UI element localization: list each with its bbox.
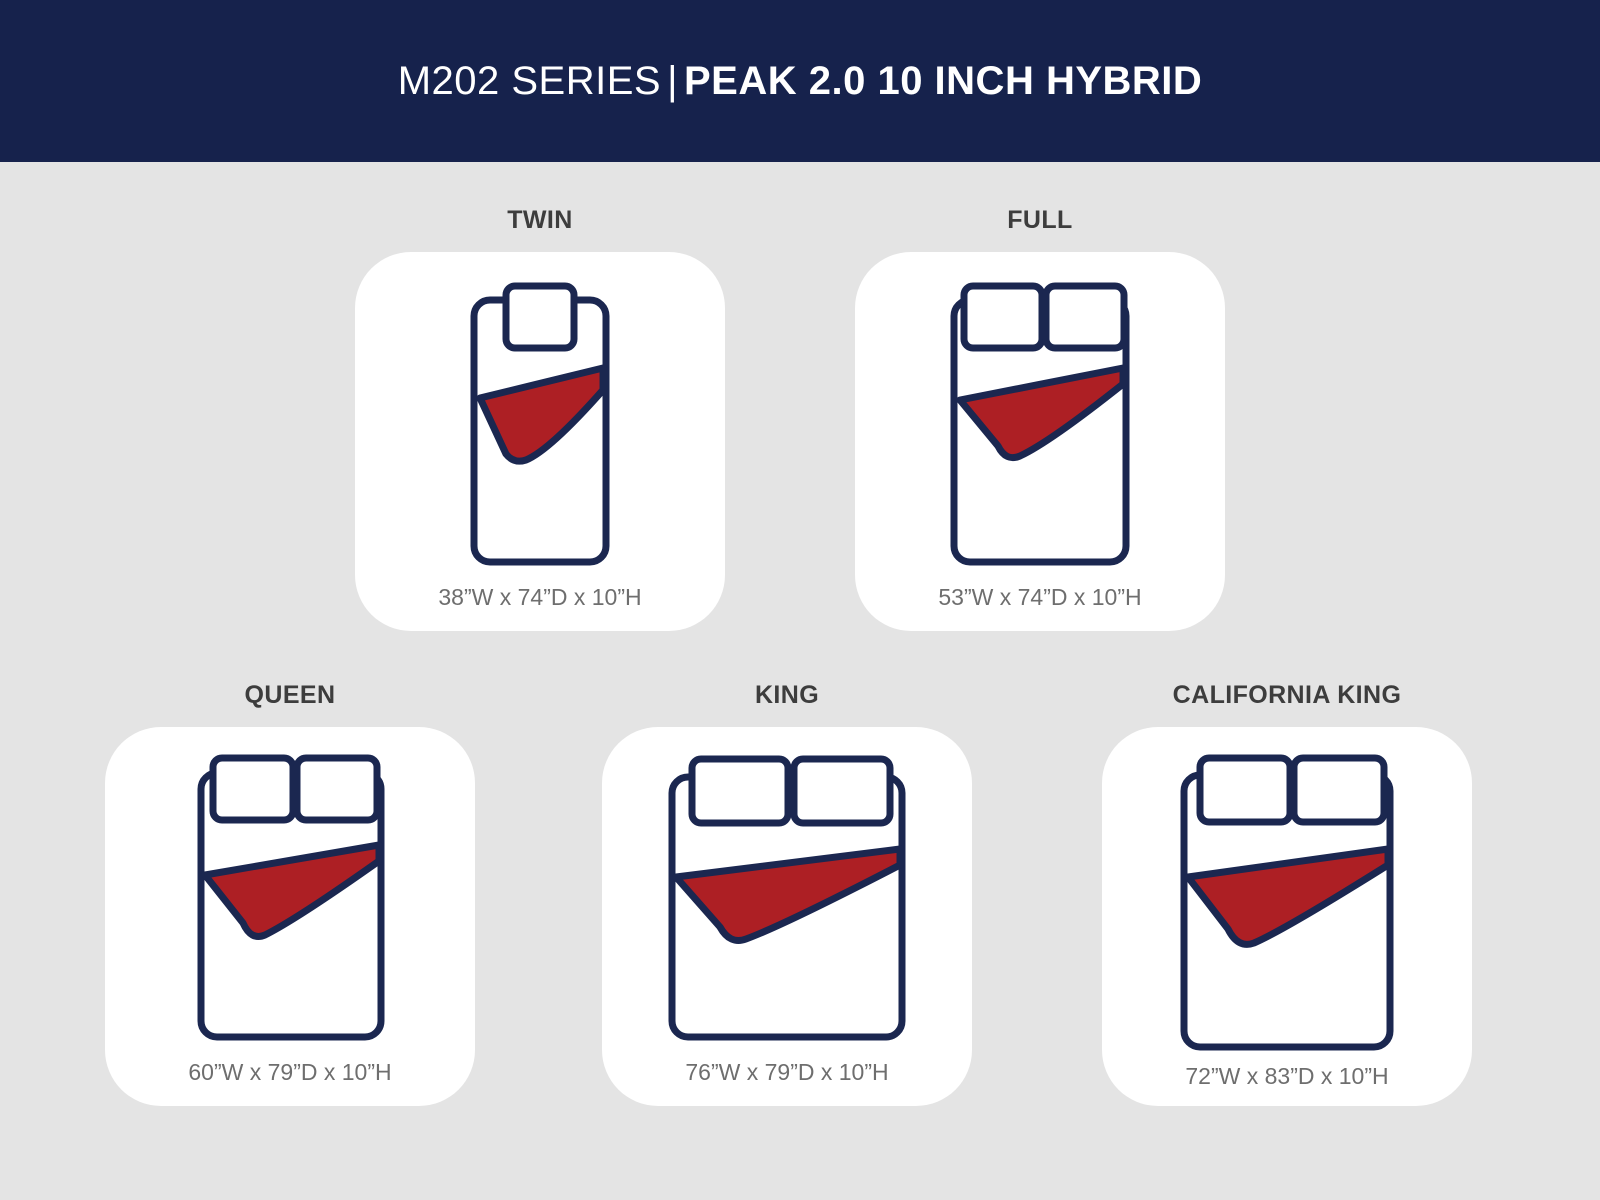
bed-illustration-twin [355, 282, 725, 572]
size-card-queen[interactable]: 60”W x 79”D x 10”H [105, 727, 475, 1106]
pillow-1 [692, 759, 788, 823]
size-card-full[interactable]: 53”W x 74”D x 10”H [855, 252, 1225, 631]
size-dimensions-twin: 38”W x 74”D x 10”H [438, 586, 641, 609]
size-label-queen: QUEEN [105, 683, 475, 713]
pillow-1 [506, 286, 574, 348]
size-card-king[interactable]: 76”W x 79”D x 10”H [602, 727, 972, 1106]
bed-illustration-queen [105, 753, 475, 1049]
pillow-1 [1200, 758, 1290, 822]
size-block-full: FULL 53”W x 74”D x 10”H [855, 208, 1225, 631]
size-dimensions-california-king: 72”W x 83”D x 10”H [1185, 1065, 1388, 1088]
size-label-full: FULL [855, 208, 1225, 238]
pillow-2 [1294, 758, 1384, 822]
size-dimensions-queen: 60”W x 79”D x 10”H [188, 1061, 391, 1084]
bed-illustration-full [855, 282, 1225, 572]
size-label-king: KING [602, 683, 972, 713]
size-block-king: KING 76”W x 79”D x 10”H [602, 683, 972, 1106]
size-card-twin[interactable]: 38”W x 74”D x 10”H [355, 252, 725, 631]
size-label-california-king: CALIFORNIA KING [1102, 683, 1472, 713]
size-label-twin: TWIN [355, 208, 725, 238]
size-block-twin: TWIN 38”W x 74”D x 10”H [355, 208, 725, 631]
page-title: M202 SERIES|PEAK 2.0 10 INCH HYBRID [398, 61, 1203, 101]
size-dimensions-king: 76”W x 79”D x 10”H [685, 1061, 888, 1084]
pillow-1 [964, 286, 1042, 348]
size-card-grid: TWIN 38”W x 74”D x 10”H FULL [0, 162, 1600, 1200]
header-bar: M202 SERIES|PEAK 2.0 10 INCH HYBRID [0, 0, 1600, 162]
pillow-1 [213, 758, 293, 820]
bed-illustration-california-king [1102, 753, 1472, 1053]
title-separator: | [661, 59, 684, 103]
pillow-2 [794, 759, 890, 823]
size-block-queen: QUEEN 60”W x 79”D x 10”H [105, 683, 475, 1106]
size-dimensions-full: 53”W x 74”D x 10”H [938, 586, 1141, 609]
size-block-california-king: CALIFORNIA KING 72”W x 83”D x 10”H [1102, 683, 1472, 1106]
model-name: PEAK 2.0 10 INCH HYBRID [684, 59, 1202, 103]
pillow-2 [297, 758, 377, 820]
size-card-california-king[interactable]: 72”W x 83”D x 10”H [1102, 727, 1472, 1106]
pillow-2 [1046, 286, 1124, 348]
series-name: M202 SERIES [398, 59, 661, 103]
bed-illustration-king [602, 753, 972, 1049]
